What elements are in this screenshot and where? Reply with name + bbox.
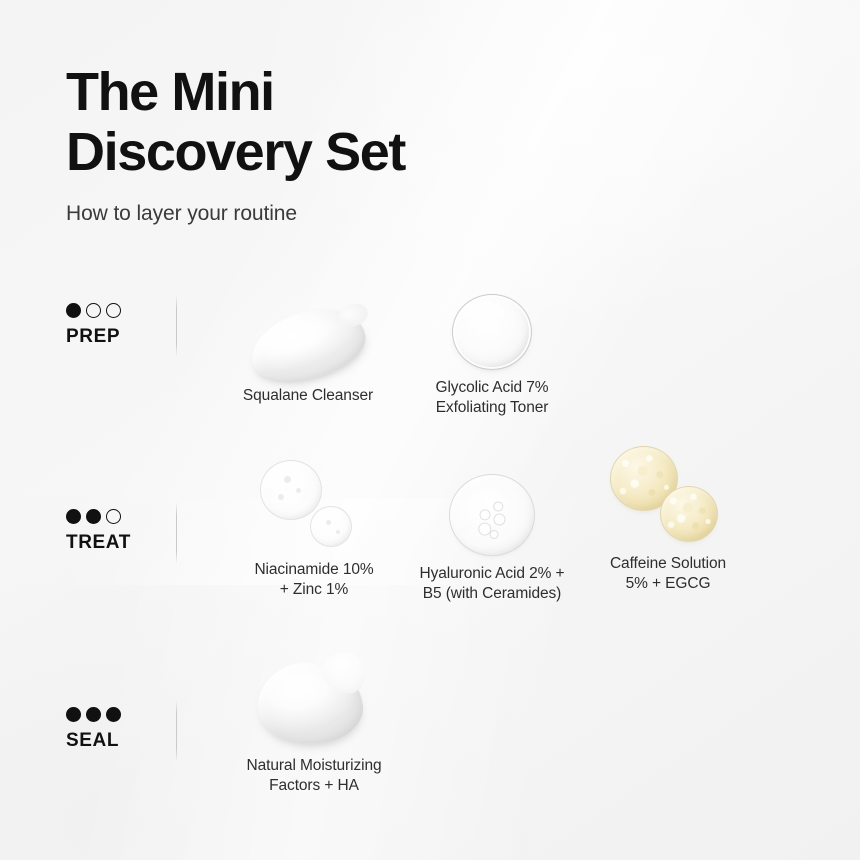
page-subtitle: How to layer your routine (66, 200, 706, 228)
clear-droplet-icon (452, 294, 532, 370)
clear-droplet-bubbles-icon (449, 474, 535, 556)
progress-dot-filled (106, 707, 121, 722)
step-label-seal: SEAL (66, 730, 176, 752)
step-progress-dots-treat (66, 507, 176, 525)
step-marker-treat: TREAT (66, 507, 176, 554)
progress-dot-filled (66, 707, 81, 722)
swatch-wrap (208, 278, 408, 378)
product-glycolic-acid-toner[interactable]: Glycolic Acid 7% Exfoliating Toner (392, 270, 592, 418)
white-cream-blob-icon (244, 299, 373, 391)
product-name: Glycolic Acid 7% Exfoliating Toner (392, 378, 592, 418)
step-progress-dots-seal (66, 705, 176, 723)
swatch-wrap (392, 456, 592, 556)
swatch-wrap (214, 648, 414, 748)
product-niacinamide[interactable]: Niacinamide 10% + Zinc 1% (214, 452, 414, 600)
page-title: The Mini Discovery Set (66, 62, 706, 182)
infographic-canvas: The Mini Discovery Set How to layer your… (0, 0, 860, 860)
product-hyaluronic-acid[interactable]: Hyaluronic Acid 2% + B5 (with Ceramides) (392, 456, 592, 604)
product-natural-moisturizing-factors[interactable]: Natural Moisturizing Factors + HA (214, 648, 414, 796)
progress-dot-filled (66, 509, 81, 524)
swatch-wrap (214, 452, 414, 552)
product-name: Hyaluronic Acid 2% + B5 (with Ceramides) (392, 564, 592, 604)
product-name: Natural Moisturizing Factors + HA (214, 756, 414, 796)
yellow-twin-droplets-icon (608, 446, 728, 546)
product-caffeine-solution[interactable]: Caffeine Solution 5% + EGCG (568, 446, 768, 594)
product-name: Squalane Cleanser (208, 386, 408, 406)
step-divider (176, 700, 177, 762)
step-divider (176, 295, 177, 357)
header: The Mini Discovery Set How to layer your… (66, 62, 706, 228)
swatch-wrap (568, 446, 768, 546)
thick-cream-blob-icon (258, 652, 370, 748)
progress-dot-empty (106, 509, 121, 524)
progress-dot-filled (86, 707, 101, 722)
product-name: Niacinamide 10% + Zinc 1% (214, 560, 414, 600)
step-label-treat: TREAT (66, 532, 176, 554)
step-progress-dots-prep (66, 301, 176, 319)
faint-twin-droplets-icon (254, 458, 374, 552)
product-name: Caffeine Solution 5% + EGCG (568, 554, 768, 594)
product-squalane-cleanser[interactable]: Squalane Cleanser (208, 278, 408, 406)
progress-dot-filled (66, 303, 81, 318)
progress-dot-empty (86, 303, 101, 318)
swatch-wrap (392, 270, 592, 370)
step-marker-seal: SEAL (66, 705, 176, 752)
progress-dot-empty (106, 303, 121, 318)
step-divider (176, 502, 177, 564)
step-marker-prep: PREP (66, 301, 176, 348)
progress-dot-filled (86, 509, 101, 524)
step-label-prep: PREP (66, 326, 176, 348)
